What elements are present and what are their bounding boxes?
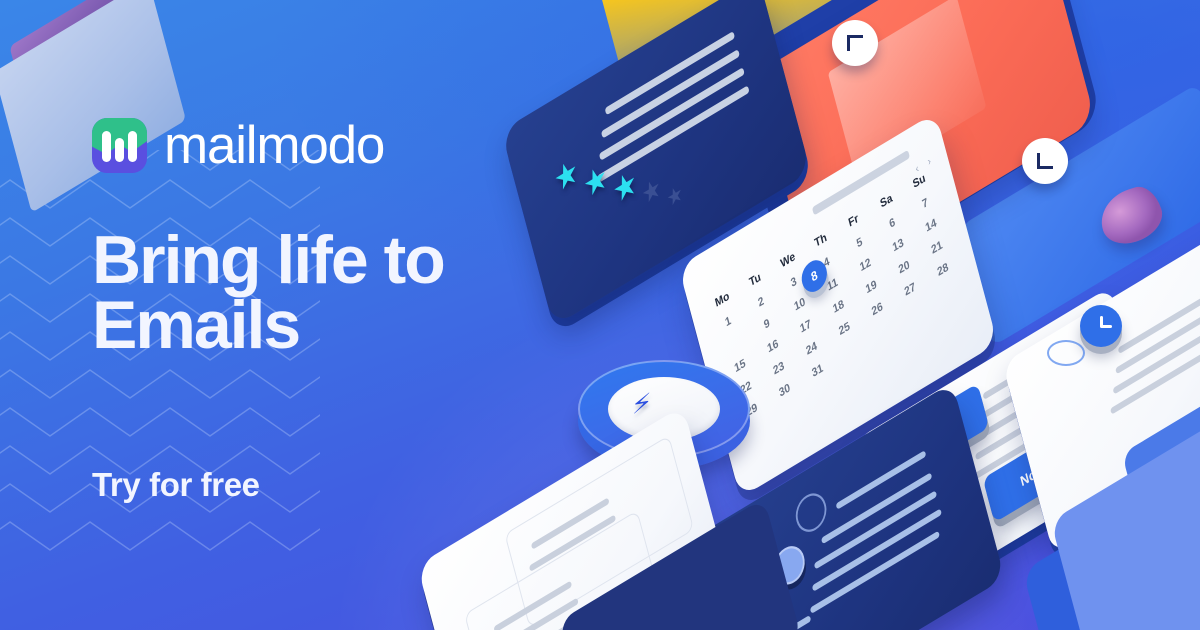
star-icon-empty-2: ★ <box>665 182 686 211</box>
logo-bar-3 <box>128 131 137 162</box>
logo-bar-1 <box>102 131 111 162</box>
crop-handle-bottom-right-icon[interactable] <box>1022 138 1068 184</box>
headline-line-2: Emails <box>92 293 562 358</box>
star-icon-filled-1: ★ <box>551 155 582 199</box>
radio-icon-unselected-2[interactable] <box>792 487 830 539</box>
star-icon-filled-2: ★ <box>580 160 611 204</box>
page-title: Bring life to Emails <box>92 228 562 359</box>
headline-line-1: Bring life to <box>92 228 562 293</box>
brand-name: mailmodo <box>164 119 384 172</box>
star-icon-empty-1: ★ <box>639 174 664 209</box>
brand-lockup[interactable]: mailmodo <box>92 118 384 173</box>
empty-radio-icon[interactable] <box>1047 340 1085 366</box>
hero-banner: ★ ★ ★ ★ ★ ‹ › Mo Tu We Th Fr Sa Su 1 2 3… <box>0 0 1200 630</box>
crop-handle-top-left-icon[interactable] <box>832 20 878 66</box>
try-for-free-cta[interactable]: Try for free <box>92 466 260 504</box>
clock-icon[interactable] <box>1080 305 1122 347</box>
mailmodo-logo-icon <box>92 118 147 173</box>
logo-bar-2 <box>115 138 124 162</box>
